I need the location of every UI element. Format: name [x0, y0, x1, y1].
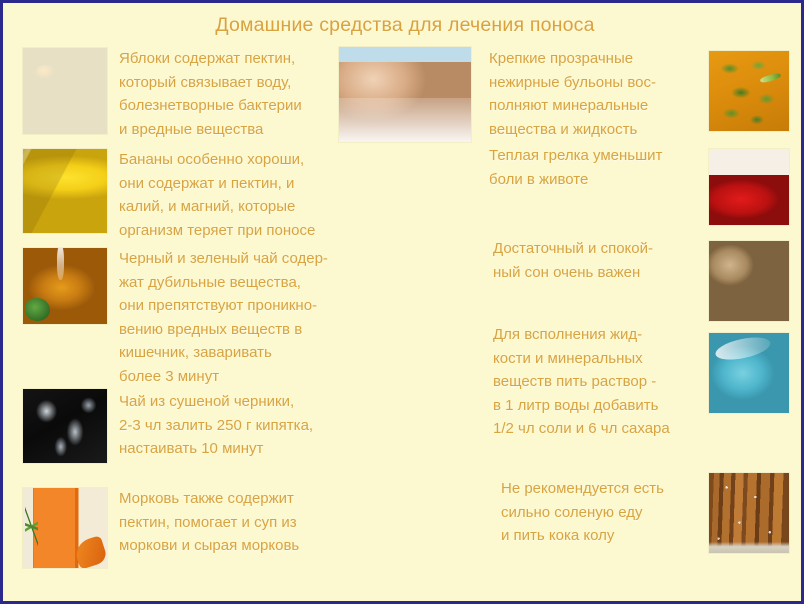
rehydration-water-image-art [709, 333, 789, 413]
salty-pretzel-sticks-image-art [709, 473, 789, 553]
apples-image-art [23, 48, 107, 134]
tip-apples-text: Яблоки содержат пектин, который связывае… [119, 47, 345, 141]
tip-tea-text: Черный и зеленый чай содер- жат дубильны… [119, 247, 381, 388]
tip-avoid-salty-text: Не рекомендуется есть сильно соленую еду… [501, 477, 713, 548]
sleeping-dog-image-art [709, 241, 789, 321]
bananas-image-art [23, 149, 107, 233]
sleeping-dog-photo [709, 241, 789, 321]
tip-sleep-text: Достаточный и спокой- ный сон очень важе… [493, 237, 705, 284]
apples-photo [23, 48, 107, 134]
tip-heating-pad-text: Теплая грелка уменьшит боли в животе [489, 144, 701, 191]
heating-pad-photo [709, 149, 789, 225]
tip-bananas-text: Бананы особенно хороши, они содержат и п… [119, 148, 371, 242]
infographic-poster: Домашние средства для лечения поноса Ябл… [0, 0, 804, 604]
tea-cup-image-art [23, 248, 107, 324]
tip-carrot-text: Морковь также содержит пектин, помогает … [119, 487, 365, 558]
salty-pretzel-sticks-photo [709, 473, 789, 553]
herbs-broth-image-art [709, 51, 789, 131]
bananas-photo [23, 149, 107, 233]
herbs-broth-photo [709, 51, 789, 131]
dried-blueberries-photo [23, 389, 107, 463]
carrot-juice-image-art [23, 488, 107, 568]
tip-blueberry-tea-text: Чай из сушеной черники, 2-3 чл залить 25… [119, 390, 371, 461]
tea-cup-photo [23, 248, 107, 324]
carrot-juice-photo [23, 488, 107, 568]
stomach-pain-image-art [339, 47, 471, 142]
tip-broth-text: Крепкие прозрачные нежирные бульоны вос-… [489, 47, 701, 141]
stomach-pain-photo [339, 47, 471, 142]
rehydration-water-photo [709, 333, 789, 413]
dried-blueberries-image-art [23, 389, 107, 463]
page-title: Домашние средства для лечения поноса [3, 14, 804, 37]
heating-pad-image-art [709, 149, 789, 225]
tip-rehydration-text: Для всполнения жид- кости и минеральных … [493, 323, 711, 441]
